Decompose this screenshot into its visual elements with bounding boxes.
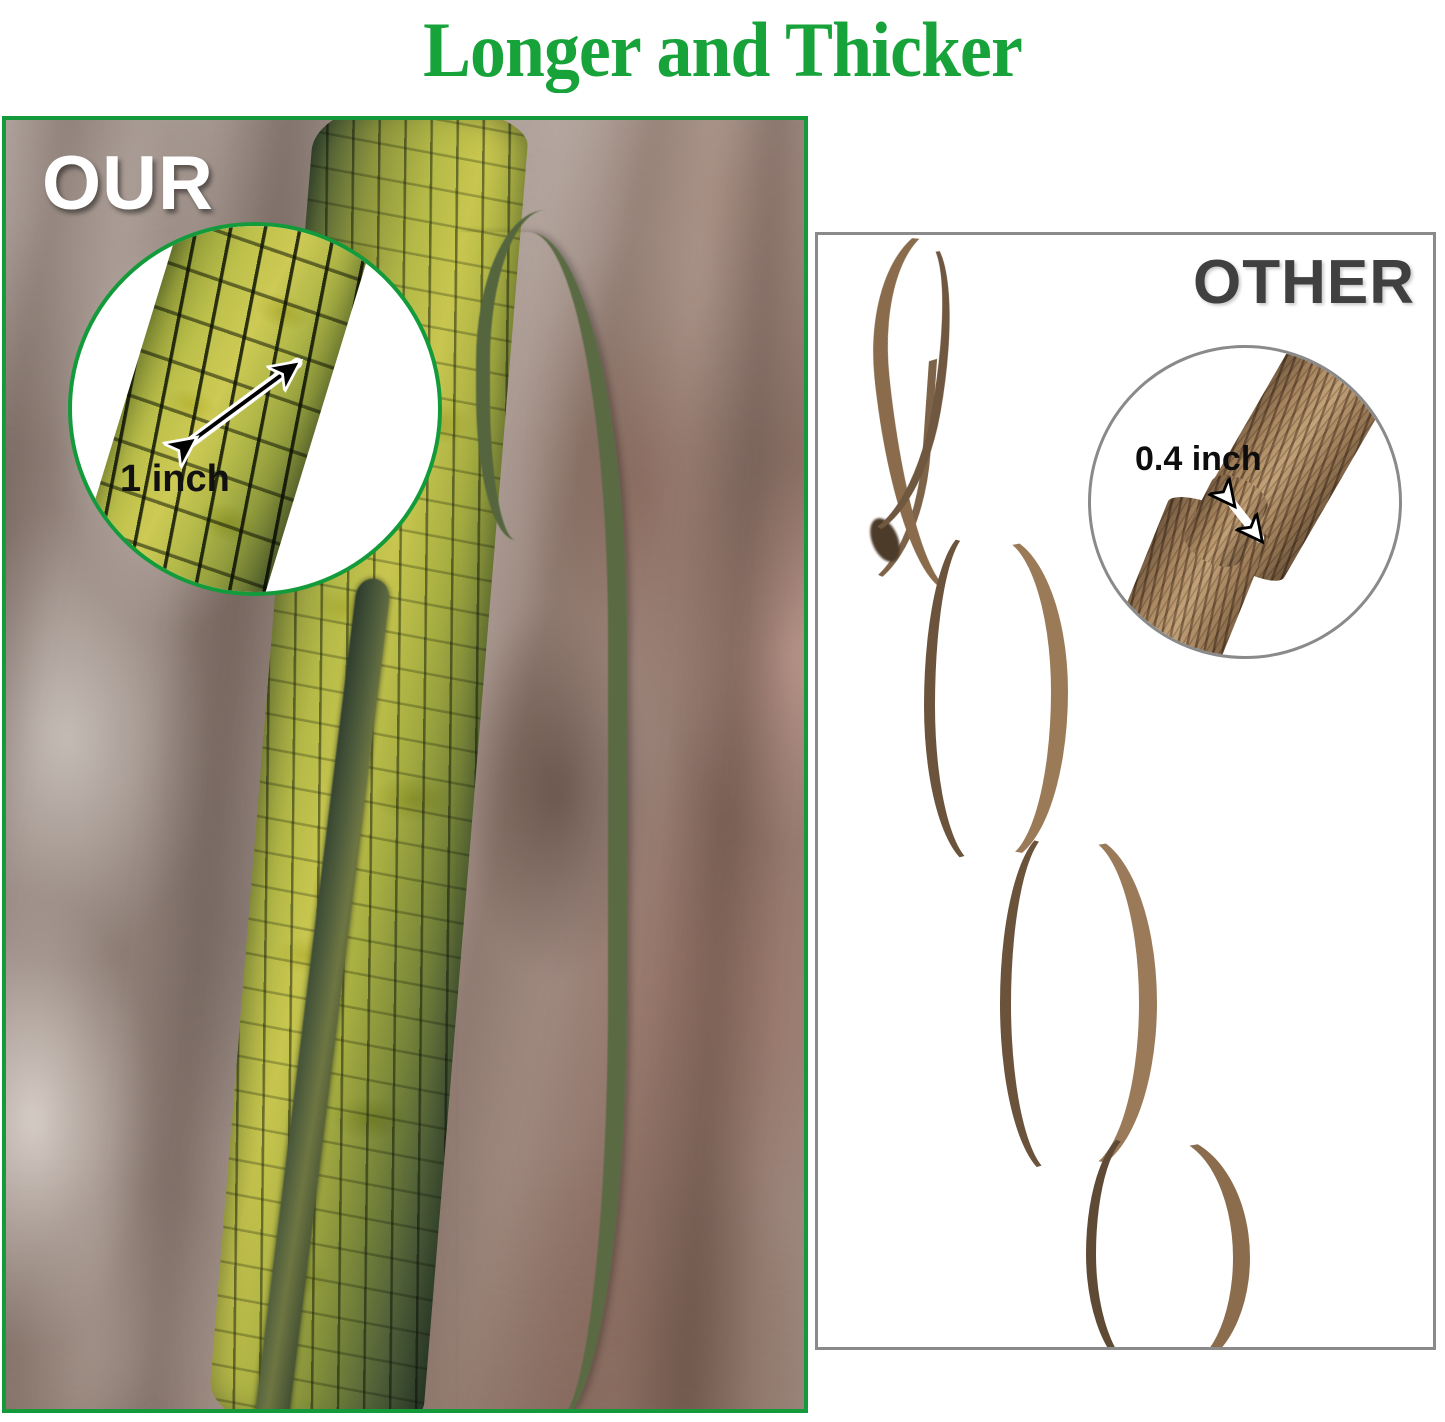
our-magnifier-callout: 1 inch bbox=[68, 222, 442, 596]
our-product-panel: OUR 1 inch bbox=[2, 116, 808, 1413]
other-vine-strand-8 bbox=[1086, 1131, 1195, 1350]
other-measurement-label: 0.4 inch bbox=[1135, 440, 1262, 479]
our-badge-label: OUR bbox=[42, 140, 214, 227]
page-title: Longer and Thicker bbox=[58, 2, 1387, 98]
other-magnifier-callout: 0.4 inch bbox=[1088, 345, 1402, 659]
our-measurement-label: 1 inch bbox=[120, 458, 230, 501]
other-vine-strand-6 bbox=[1000, 831, 1106, 1177]
other-badge-label: OTHER bbox=[1193, 247, 1415, 318]
other-vine-strand-4 bbox=[924, 531, 1024, 867]
